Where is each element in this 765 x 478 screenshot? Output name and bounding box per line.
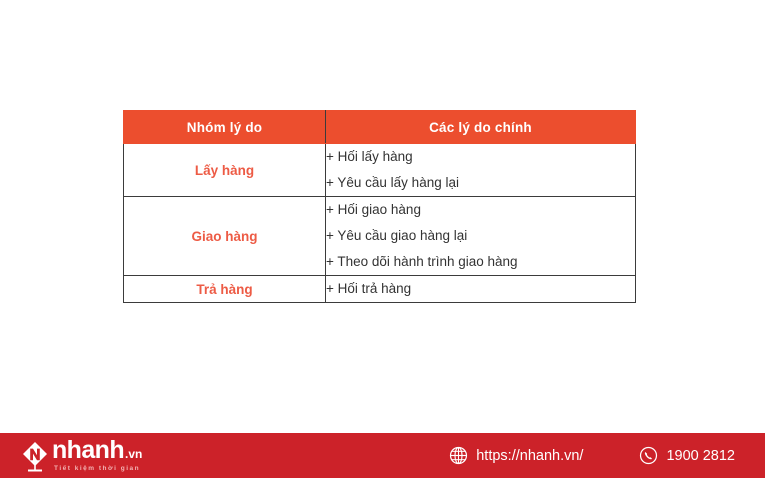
brand-name: nhanh [52,438,124,463]
reasons-table: Nhóm lý do Các lý do chính Lấy hàng + Hố… [123,110,636,303]
brand-tagline: Tiết kiệm thời gian [54,466,142,473]
table-header-row: Nhóm lý do Các lý do chính [124,111,636,144]
reasons-table-container: Nhóm lý do Các lý do chính Lấy hàng + Hố… [123,110,635,303]
table-row: Trả hàng + Hối trả hàng [124,276,636,303]
row-group-label: Trả hàng [124,276,326,303]
list-item: + Hối trả hàng [326,276,635,302]
column-header-items: Các lý do chính [326,111,636,144]
globe-icon [449,446,468,465]
list-item: + Hối lấy hàng [326,144,635,170]
row-group-label: Giao hàng [124,197,326,276]
list-item: + Yêu cầu giao hàng lại [326,223,635,249]
hotline[interactable]: 1900 2812 [639,446,735,465]
phone-icon [639,446,658,465]
list-item: + Hối giao hàng [326,197,635,223]
table-row: Lấy hàng + Hối lấy hàng + Yêu cầu lấy hà… [124,144,636,197]
column-header-group: Nhóm lý do [124,111,326,144]
hotline-number-text: 1900 2812 [666,448,735,464]
table-row: Giao hàng + Hối giao hàng + Yêu cầu giao… [124,197,636,276]
list-item: + Yêu cầu lấy hàng lại [326,170,635,196]
list-item: + Theo dõi hành trình giao hàng [326,249,635,275]
row-items: + Hối trả hàng [326,276,636,303]
row-items: + Hối giao hàng + Yêu cầu giao hàng lại … [326,197,636,276]
footer-contacts: https://nhanh.vn/ 1900 2812 [449,446,735,465]
table-body: Lấy hàng + Hối lấy hàng + Yêu cầu lấy hà… [124,144,636,303]
brand-wordmark: nhanh .vn Tiết kiệm thời gian [52,438,142,473]
diamond-n-icon [22,441,48,471]
row-group-label: Lấy hàng [124,144,326,197]
table-header: Nhóm lý do Các lý do chính [124,111,636,144]
website-link[interactable]: https://nhanh.vn/ [449,446,583,465]
brand-logo[interactable]: nhanh .vn Tiết kiệm thời gian [22,433,142,478]
brand-name-row: nhanh .vn [52,438,142,463]
website-url-text: https://nhanh.vn/ [476,448,583,464]
footer-bar: nhanh .vn Tiết kiệm thời gian https://nh… [0,433,765,478]
row-items: + Hối lấy hàng + Yêu cầu lấy hàng lại [326,144,636,197]
brand-tld: .vn [125,448,142,460]
